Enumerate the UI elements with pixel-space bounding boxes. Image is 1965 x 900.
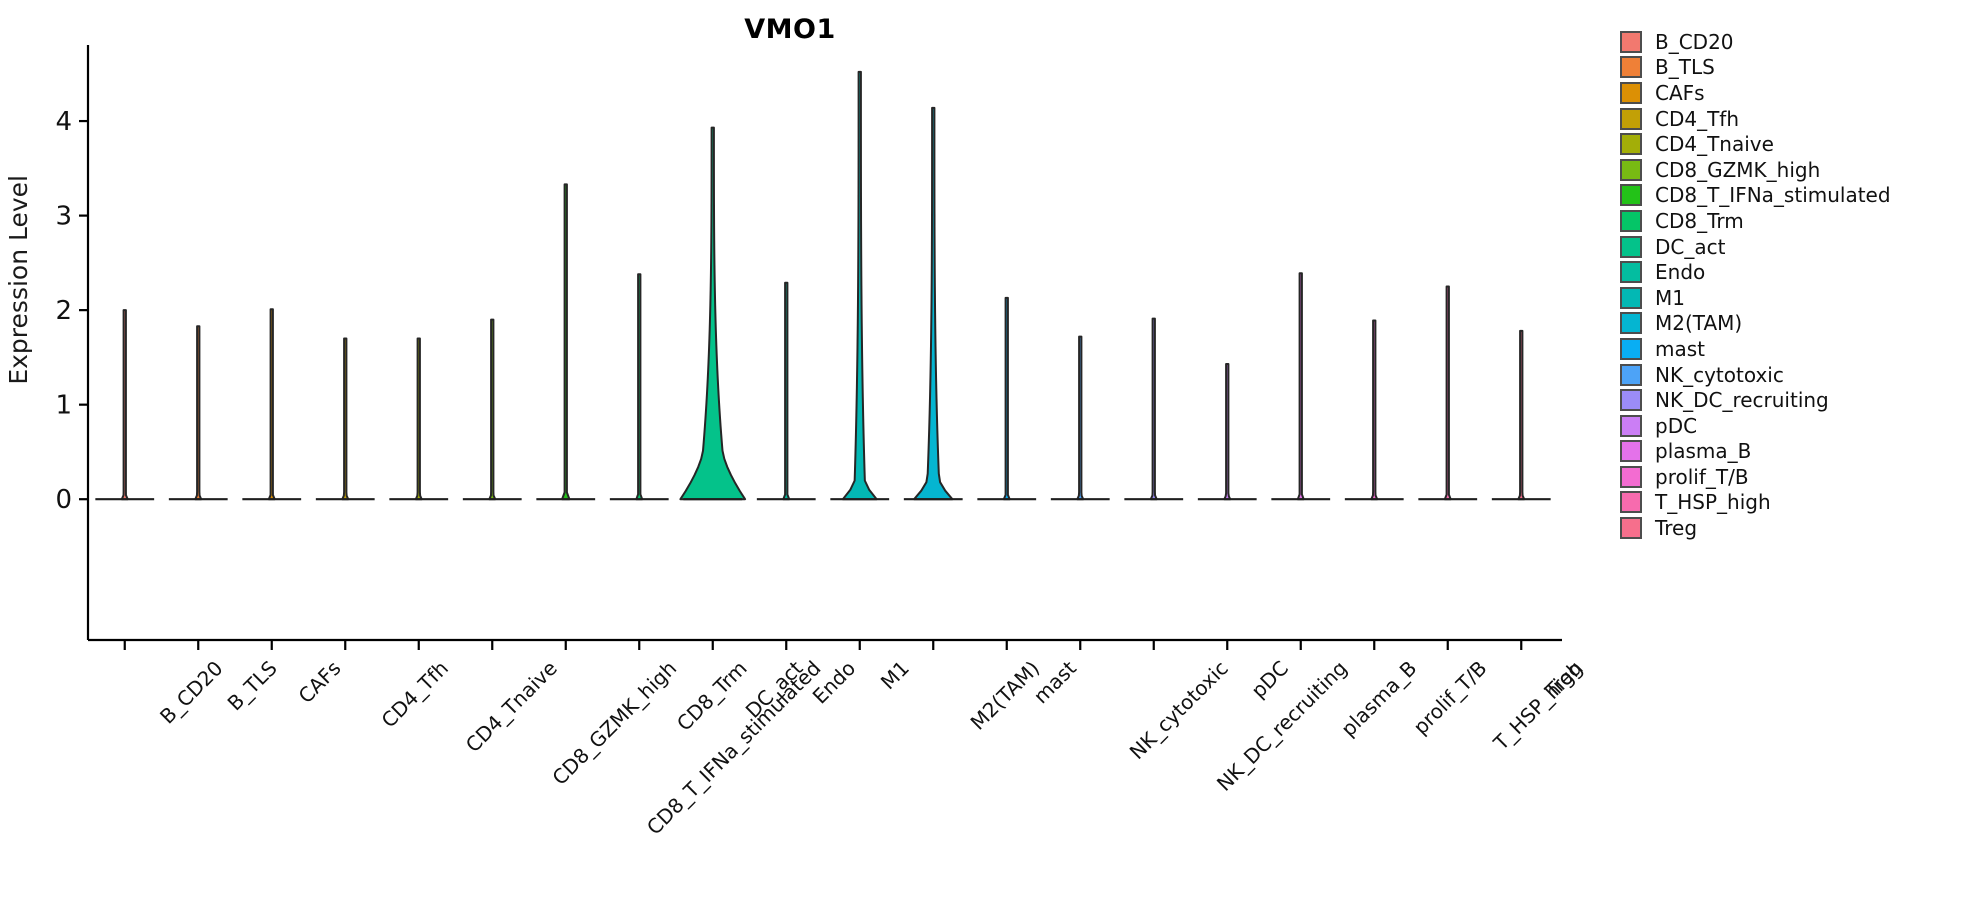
legend-item-label: CD4_Tfh bbox=[1655, 109, 1739, 129]
legend-item-mast[interactable]: mast bbox=[1620, 336, 1950, 362]
y-tick-label: 1 bbox=[55, 391, 72, 421]
legend-swatch-icon bbox=[1620, 159, 1642, 181]
y-tick-label: 4 bbox=[55, 107, 72, 137]
violin-DC_act[interactable] bbox=[680, 128, 745, 500]
violin-body[interactable] bbox=[1151, 319, 1157, 500]
legend-item-label: NK_cytotoxic bbox=[1655, 365, 1784, 385]
legend-item-CD8_GZMK_high[interactable]: CD8_GZMK_high bbox=[1620, 157, 1950, 183]
violins-layer bbox=[95, 72, 1550, 499]
legend-item-label: CD8_GZMK_high bbox=[1655, 160, 1820, 180]
legend-item-Endo[interactable]: Endo bbox=[1620, 259, 1950, 285]
violin-mast[interactable] bbox=[977, 298, 1036, 499]
axes-layer bbox=[88, 45, 1562, 640]
legend-item-DC_act[interactable]: DC_act bbox=[1620, 234, 1950, 260]
legend-item-label: T_HSP_high bbox=[1655, 492, 1771, 512]
legend-swatch-icon bbox=[1620, 517, 1642, 539]
violin-body[interactable] bbox=[1518, 331, 1524, 499]
legend-item-label: prolif_T/B bbox=[1655, 467, 1749, 487]
violin-CD8_Trm[interactable] bbox=[610, 274, 669, 499]
violin-body[interactable] bbox=[122, 310, 128, 499]
violin-body[interactable] bbox=[783, 283, 789, 499]
legend-item-prolif_T/B[interactable]: prolif_T/B bbox=[1620, 464, 1950, 490]
violin-NK_cytotoxic[interactable] bbox=[1051, 337, 1110, 500]
legend-swatch-icon bbox=[1620, 491, 1642, 513]
violin-CAFs[interactable] bbox=[242, 309, 301, 499]
legend-item-label: Treg bbox=[1655, 518, 1697, 538]
legend-item-label: NK_DC_recruiting bbox=[1655, 390, 1829, 410]
legend-item-label: M2(TAM) bbox=[1655, 313, 1742, 333]
violin-body[interactable] bbox=[680, 128, 745, 500]
legend-item-label: DC_act bbox=[1655, 237, 1725, 257]
legend-swatch-icon bbox=[1620, 108, 1642, 130]
violin-CD8_GZMK_high[interactable] bbox=[463, 320, 522, 500]
violin-body[interactable] bbox=[843, 72, 877, 499]
violin-plot-figure: VMO1 Expression Level 01234 B_CD20B_TLSC… bbox=[0, 0, 1965, 900]
legend-swatch-icon bbox=[1620, 31, 1642, 53]
legend-swatch-icon bbox=[1620, 56, 1642, 78]
legend-item-T_HSP_high[interactable]: T_HSP_high bbox=[1620, 490, 1950, 516]
legend-item-pDC[interactable]: pDC bbox=[1620, 413, 1950, 439]
violin-B_CD20[interactable] bbox=[95, 310, 154, 499]
violin-body[interactable] bbox=[1445, 287, 1451, 500]
legend-item-B_CD20[interactable]: B_CD20 bbox=[1620, 29, 1950, 55]
violin-CD8_T_IFNa_stimulated[interactable] bbox=[536, 184, 595, 499]
violin-plasma_B[interactable] bbox=[1271, 273, 1330, 499]
legend-swatch-icon bbox=[1620, 338, 1642, 360]
violin-M1[interactable] bbox=[830, 72, 889, 499]
legend-item-label: CAFs bbox=[1655, 83, 1705, 103]
legend-swatch-icon bbox=[1620, 440, 1642, 462]
legend-item-label: CD8_Trm bbox=[1655, 211, 1744, 231]
violin-Treg[interactable] bbox=[1492, 331, 1551, 499]
violin-prolif_T/B[interactable] bbox=[1345, 321, 1404, 500]
legend-item-CD4_Tnaive[interactable]: CD4_Tnaive bbox=[1620, 131, 1950, 157]
legend-item-label: B_TLS bbox=[1655, 57, 1715, 77]
legend-item-B_TLS[interactable]: B_TLS bbox=[1620, 55, 1950, 81]
legend-item-NK_cytotoxic[interactable]: NK_cytotoxic bbox=[1620, 362, 1950, 388]
legend-item-CAFs[interactable]: CAFs bbox=[1620, 80, 1950, 106]
legend-swatch-icon bbox=[1620, 184, 1642, 206]
violin-body[interactable] bbox=[914, 108, 952, 499]
legend-item-plasma_B[interactable]: plasma_B bbox=[1620, 439, 1950, 465]
legend-item-CD8_Trm[interactable]: CD8_Trm bbox=[1620, 208, 1950, 234]
violin-pDC[interactable] bbox=[1198, 364, 1257, 499]
violin-body[interactable] bbox=[1224, 364, 1230, 499]
violin-body[interactable] bbox=[562, 184, 569, 499]
y-tick-label: 0 bbox=[55, 485, 72, 515]
legend-swatch-icon bbox=[1620, 236, 1642, 258]
legend: B_CD20B_TLSCAFsCD4_TfhCD4_TnaiveCD8_GZMK… bbox=[1620, 29, 1950, 541]
violin-Endo[interactable] bbox=[757, 283, 816, 499]
legend-swatch-icon bbox=[1620, 210, 1642, 232]
violin-body[interactable] bbox=[1298, 273, 1304, 499]
legend-item-label: mast bbox=[1655, 339, 1705, 359]
legend-item-label: CD4_Tnaive bbox=[1655, 134, 1774, 154]
legend-swatch-icon bbox=[1620, 312, 1642, 334]
y-ticks-layer: 01234 bbox=[55, 107, 88, 515]
violin-body[interactable] bbox=[489, 320, 495, 500]
violin-body[interactable] bbox=[636, 274, 642, 499]
legend-swatch-icon bbox=[1620, 415, 1642, 437]
violin-body[interactable] bbox=[269, 309, 275, 499]
violin-T_HSP_high[interactable] bbox=[1418, 287, 1477, 500]
violin-body[interactable] bbox=[1077, 337, 1083, 500]
legend-item-CD8_T_IFNa_stimulated[interactable]: CD8_T_IFNa_stimulated bbox=[1620, 183, 1950, 209]
legend-item-Treg[interactable]: Treg bbox=[1620, 515, 1950, 541]
legend-item-label: B_CD20 bbox=[1655, 32, 1734, 52]
legend-swatch-icon bbox=[1620, 133, 1642, 155]
violin-body[interactable] bbox=[1371, 321, 1377, 500]
violin-body[interactable] bbox=[416, 338, 422, 499]
legend-swatch-icon bbox=[1620, 82, 1642, 104]
legend-item-label: Endo bbox=[1655, 262, 1705, 282]
legend-item-label: M1 bbox=[1655, 288, 1685, 308]
legend-item-label: pDC bbox=[1655, 416, 1697, 436]
legend-item-CD4_Tfh[interactable]: CD4_Tfh bbox=[1620, 106, 1950, 132]
y-tick-label: 3 bbox=[55, 202, 72, 232]
violin-body[interactable] bbox=[1004, 298, 1010, 499]
violin-CD4_Tfh[interactable] bbox=[316, 338, 375, 499]
legend-swatch-icon bbox=[1620, 389, 1642, 411]
violin-M2(TAM)[interactable] bbox=[904, 108, 963, 499]
legend-swatch-icon bbox=[1620, 466, 1642, 488]
violin-B_TLS[interactable] bbox=[169, 326, 228, 499]
violin-body[interactable] bbox=[195, 326, 201, 499]
violin-NK_DC_recruiting[interactable] bbox=[1124, 319, 1183, 500]
legend-item-M2(TAM)[interactable]: M2(TAM) bbox=[1620, 311, 1950, 337]
legend-item-label: CD8_T_IFNa_stimulated bbox=[1655, 185, 1891, 205]
violin-body[interactable] bbox=[342, 338, 348, 499]
legend-item-label: plasma_B bbox=[1655, 441, 1751, 461]
legend-item-M1[interactable]: M1 bbox=[1620, 285, 1950, 311]
violin-CD4_Tnaive[interactable] bbox=[389, 338, 448, 499]
legend-swatch-icon bbox=[1620, 287, 1642, 309]
legend-swatch-icon bbox=[1620, 261, 1642, 283]
y-tick-label: 2 bbox=[55, 296, 72, 326]
legend-item-NK_DC_recruiting[interactable]: NK_DC_recruiting bbox=[1620, 387, 1950, 413]
x-ticks-layer bbox=[125, 640, 1522, 650]
legend-swatch-icon bbox=[1620, 364, 1642, 386]
